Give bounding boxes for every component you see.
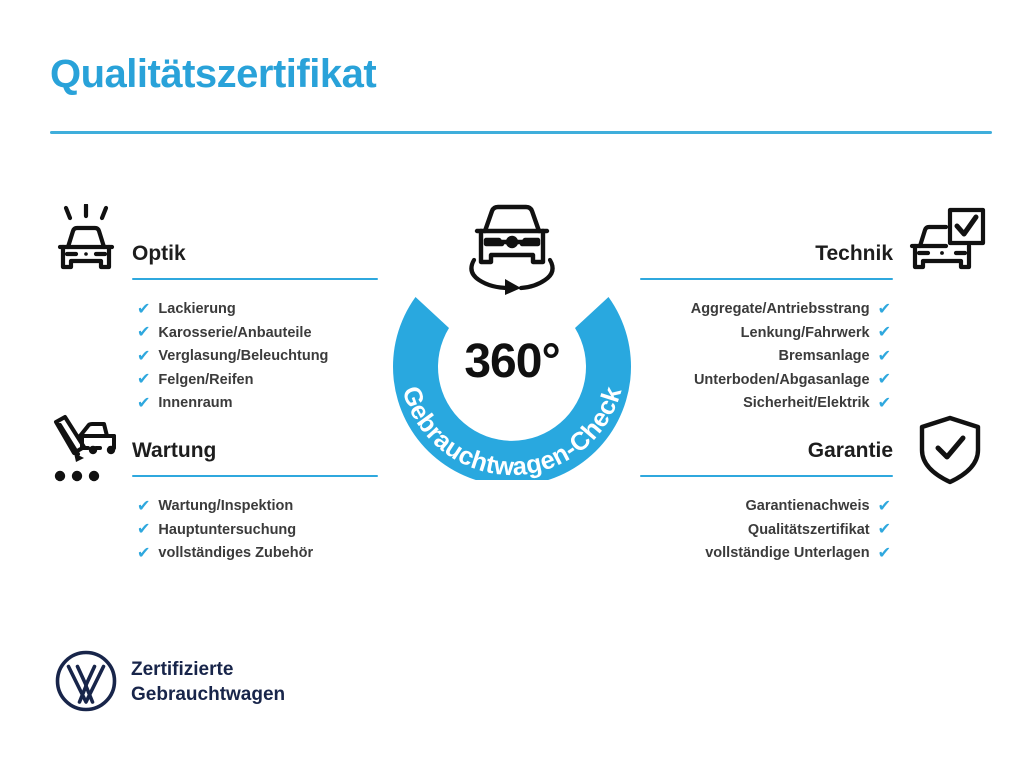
section-wartung-list: ✔Wartung/Inspektion ✔Hauptuntersuchung ✔…	[137, 495, 378, 566]
car-checkbox-icon	[906, 204, 988, 280]
section-wartung-head: Wartung	[132, 437, 378, 477]
section-technik-list: Aggregate/Antriebsstrang✔ Lenkung/Fahrwe…	[640, 298, 891, 416]
list-item-label: Innenraum	[158, 392, 232, 416]
check-icon: ✔	[878, 325, 891, 341]
section-wartung-underline	[132, 475, 378, 478]
list-item: ✔Lackierung	[137, 298, 378, 322]
list-item-label: Felgen/Reifen	[158, 369, 253, 393]
list-item: ✔Felgen/Reifen	[137, 369, 378, 393]
list-item: ✔Hauptuntersuchung	[137, 519, 378, 543]
check-icon: ✔	[878, 372, 891, 388]
shield-check-icon	[916, 414, 984, 486]
section-garantie-title: Garantie	[640, 437, 893, 465]
header-divider	[50, 131, 992, 134]
section-technik-underline	[640, 278, 893, 281]
list-item-label: Verglasung/Beleuchtung	[158, 345, 328, 369]
section-garantie-list: Garantienachweis✔ Qualitätszertifikat✔ v…	[640, 495, 891, 566]
check-icon: ✔	[137, 396, 150, 412]
volkswagen-logo	[55, 650, 117, 712]
list-item-label: Bremsanlage	[779, 345, 870, 369]
car-rotate-360-icon	[455, 199, 569, 295]
list-item-label: Wartung/Inspektion	[158, 495, 293, 519]
list-item: Unterboden/Abgasanlage✔	[640, 369, 891, 393]
list-item-label: vollständiges Zubehör	[158, 542, 313, 566]
check-icon: ✔	[137, 522, 150, 538]
list-item-label: Sicherheit/Elektrik	[743, 392, 870, 416]
list-item: Bremsanlage✔	[640, 345, 891, 369]
list-item-label: Lackierung	[158, 298, 235, 322]
list-item: Sicherheit/Elektrik✔	[640, 392, 891, 416]
section-technik: Technik Aggregate/Antriebsstrang✔ Lenkun…	[640, 240, 893, 416]
list-item: ✔Innenraum	[137, 392, 378, 416]
section-garantie-head: Garantie	[640, 437, 893, 477]
section-wartung-title: Wartung	[132, 437, 378, 465]
list-item-label: Hauptuntersuchung	[158, 519, 296, 543]
certificate-page: Qualitätszertifikat	[0, 0, 1024, 768]
check-icon: ✔	[137, 325, 150, 341]
list-item-label: Karosserie/Anbauteile	[158, 322, 311, 346]
check-icon: ✔	[878, 546, 891, 562]
section-optik-list: ✔Lackierung ✔Karosserie/Anbauteile ✔Verg…	[137, 298, 378, 416]
page-title: Qualitätszertifikat	[50, 52, 376, 96]
check-icon: ✔	[137, 372, 150, 388]
vw-lockup-text: Zertifizierte Gebrauchtwagen	[131, 657, 285, 707]
list-item: Qualitätszertifikat✔	[640, 519, 891, 543]
check-icon: ✔	[137, 546, 150, 562]
list-item-label: Garantienachweis	[745, 495, 869, 519]
section-optik-title: Optik	[132, 240, 378, 268]
car-shine-icon	[46, 204, 126, 280]
check-icon: ✔	[878, 396, 891, 412]
check-icon: ✔	[137, 302, 150, 318]
list-item: ✔Wartung/Inspektion	[137, 495, 378, 519]
check-icon: ✔	[878, 499, 891, 515]
section-optik-underline	[132, 278, 378, 281]
list-item-label: Aggregate/Antriebsstrang	[691, 298, 870, 322]
list-item-label: Qualitätszertifikat	[748, 519, 870, 543]
vw-lockup-line2: Gebrauchtwagen	[131, 682, 285, 707]
section-optik-head: Optik	[132, 240, 378, 280]
check-icon: ✔	[878, 522, 891, 538]
pencil-car-service-icon	[44, 414, 126, 486]
list-item: ✔vollständiges Zubehör	[137, 542, 378, 566]
section-garantie-underline	[640, 475, 893, 478]
section-garantie: Garantie Garantienachweis✔ Qualitätszert…	[640, 437, 893, 566]
list-item: vollständige Unterlagen✔	[640, 542, 891, 566]
list-item-label: Lenkung/Fahrwerk	[741, 322, 870, 346]
section-wartung: Wartung ✔Wartung/Inspektion ✔Hauptunters…	[132, 437, 378, 566]
badge-degrees-label: 360°	[375, 334, 649, 390]
list-item: Lenkung/Fahrwerk✔	[640, 322, 891, 346]
list-item: Garantienachweis✔	[640, 495, 891, 519]
list-item: Aggregate/Antriebsstrang✔	[640, 298, 891, 322]
check-icon: ✔	[878, 349, 891, 365]
check-icon: ✔	[878, 302, 891, 318]
list-item-label: Unterboden/Abgasanlage	[694, 369, 870, 393]
check-icon: ✔	[137, 499, 150, 515]
section-technik-head: Technik	[640, 240, 893, 280]
check-icon: ✔	[137, 349, 150, 365]
list-item: ✔Verglasung/Beleuchtung	[137, 345, 378, 369]
list-item-label: vollständige Unterlagen	[705, 542, 869, 566]
section-optik: Optik ✔Lackierung ✔Karosserie/Anbauteile…	[132, 240, 378, 416]
vw-lockup-line1: Zertifizierte	[131, 657, 285, 682]
section-technik-title: Technik	[640, 240, 893, 268]
list-item: ✔Karosserie/Anbauteile	[137, 322, 378, 346]
